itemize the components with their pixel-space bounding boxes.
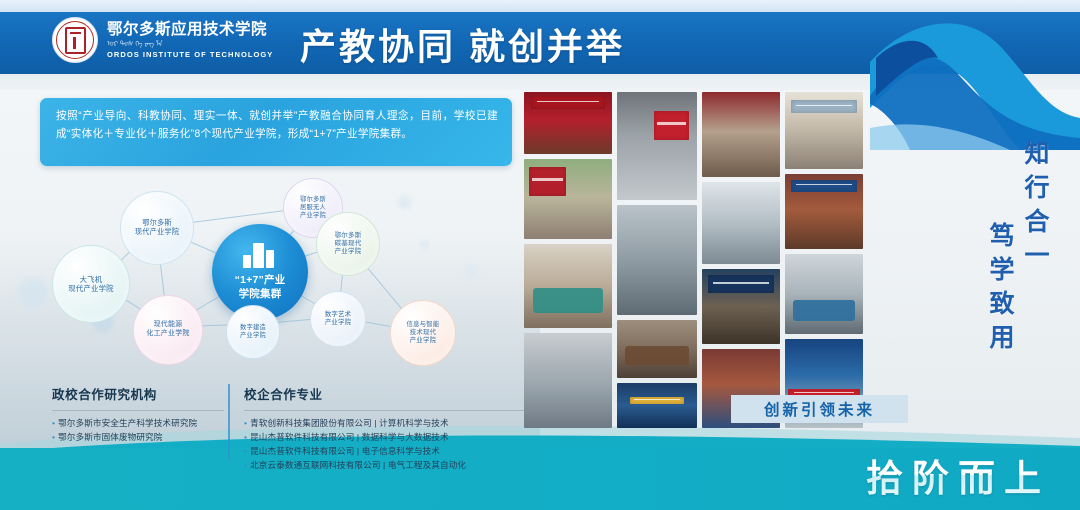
list-item: •北京云泰数通互联网科技有限公司 | 电气工程及其自动化 <box>244 459 524 473</box>
list-divider <box>228 384 230 460</box>
bubble-dafeiji: 大飞机现代产业学院 <box>52 245 130 323</box>
photo-thumbnail <box>617 383 697 428</box>
calligraphy-line-1: 知行合一 <box>1022 140 1047 276</box>
logo-name-en: ORDOS INSTITUTE OF TECHNOLOGY <box>107 51 273 59</box>
list-item: •昆山杰普软件科技有限公司 | 电子信息科学与技术 <box>244 445 524 459</box>
institution-logo: 鄂尔多斯应用技术学院 ᠣᠷ ᠳᠣᠰ ᠬᠡ ᠷᠡᠭ ᠯᠡ ORDOS INSTIT… <box>52 17 273 63</box>
intro-paragraph: 按照“产业导向、科教协同、理实一体、就创并举”产教融合协同育人理念，目前，学校已… <box>56 107 498 143</box>
bubble-ordos-modern: 鄂尔多斯现代产业学院 <box>120 191 194 265</box>
buildings-icon <box>243 243 277 268</box>
photo-thumbnail <box>524 244 612 328</box>
photo-thumbnail <box>524 92 612 154</box>
list-item: •昆山杰普软件科技有限公司 | 数据科学与大数据技术 <box>244 431 524 445</box>
enterprise-block: 校企合作专业 •青软创新科技集团股份有限公司 | 计算机科学与技术 •昆山杰普软… <box>244 384 524 473</box>
photo-thumbnail <box>524 333 612 428</box>
collage-column-2 <box>617 92 697 428</box>
photo-thumbnail <box>617 205 697 315</box>
gov-school-title: 政校合作研究机构 <box>52 384 224 403</box>
list-item: •鄂尔多斯市安全生产科学技术研究院 <box>52 417 224 431</box>
intro-card: 按照“产业导向、科教协同、理实一体、就创并举”产教融合协同育人理念，目前，学校已… <box>40 98 512 166</box>
photo-thumbnail <box>785 92 863 169</box>
gov-school-block: 政校合作研究机构 •鄂尔多斯市安全生产科学技术研究院 •鄂尔多斯市固体废物研究院 <box>52 384 224 445</box>
industry-college-network: “1+7”产业 学院集群 鄂尔多斯现代产业学院 大飞机现代产业学院 现代能源化工… <box>28 172 528 372</box>
collage-caption: 创新引领未来 <box>731 395 908 423</box>
photo-thumbnail <box>524 159 612 239</box>
page-title: 产教协同 就创并举 <box>300 18 625 70</box>
header-gloss <box>0 0 1080 12</box>
collage-column-3 <box>702 92 780 428</box>
photo-thumbnail <box>702 269 780 344</box>
photo-collage <box>524 92 938 428</box>
bubble-energy-chem: 现代能源化工产业学院 <box>133 295 203 365</box>
collage-caption-text: 创新引领未来 <box>764 398 875 420</box>
photo-thumbnail <box>617 92 697 200</box>
bubble-carbon: 鄂尔多斯碳基现代产业学院 <box>316 212 380 276</box>
photo-thumbnail <box>785 174 863 249</box>
university-seal-icon <box>52 17 98 63</box>
header-underbar <box>0 74 1080 90</box>
bottom-slogan: 拾阶而上 <box>866 448 1050 502</box>
poster-root: 鄂尔多斯应用技术学院 ᠣᠷ ᠳᠣᠰ ᠬᠡ ᠷᠡᠭ ᠯᠡ ORDOS INSTIT… <box>0 0 1080 510</box>
collage-column-1 <box>524 92 612 428</box>
bubble-info-intel: 信息与智能技术现代产业学院 <box>390 300 456 366</box>
bubble-center-label: “1+7”产业 学院集群 <box>235 273 286 301</box>
collage-column-4 <box>785 92 863 428</box>
photo-thumbnail <box>617 320 697 378</box>
calligraphy-line-2: 笃学致用 <box>987 222 1012 358</box>
bubble-digital-build-2: 数字建造产业学院 <box>226 305 280 359</box>
enterprise-title: 校企合作专业 <box>244 384 524 403</box>
photo-thumbnail <box>785 254 863 335</box>
list-item: •青软创新科技集团股份有限公司 | 计算机科学与技术 <box>244 417 524 431</box>
list-item: •鄂尔多斯市固体废物研究院 <box>52 431 224 445</box>
bubble-digital-art: 数字艺术产业学院 <box>310 291 366 347</box>
logo-name-mn: ᠣᠷ ᠳᠣᠰ ᠬᠡ ᠷᠡᠭ ᠯᠡ <box>107 41 273 48</box>
photo-thumbnail <box>702 182 780 265</box>
logo-name-cn: 鄂尔多斯应用技术学院 <box>107 22 273 38</box>
photo-thumbnail <box>702 92 780 177</box>
logo-text-group: 鄂尔多斯应用技术学院 ᠣᠷ ᠳᠣᠰ ᠬᠡ ᠷᠡᠭ ᠯᠡ ORDOS INSTIT… <box>107 22 273 58</box>
